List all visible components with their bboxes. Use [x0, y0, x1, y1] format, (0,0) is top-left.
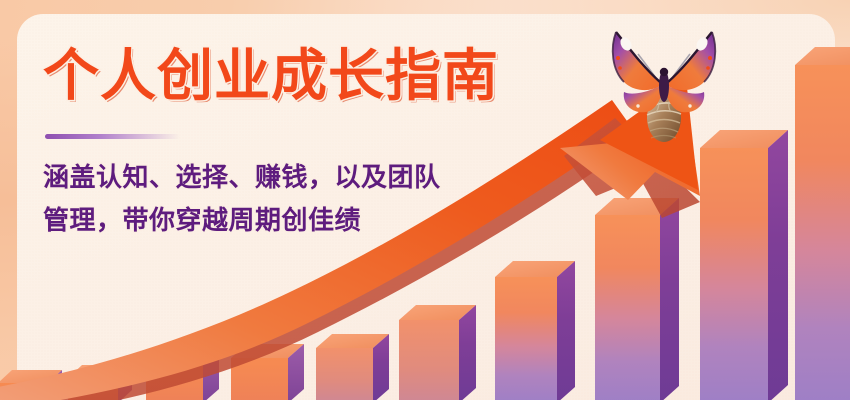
bar-7 [495, 261, 575, 400]
promo-banner: 个人创业成长指南 个人创业成长指南 涵盖认知、选择、赚钱，以及团队 管理，带你穿… [0, 0, 850, 400]
bar-9 [700, 130, 788, 400]
bar-3 [146, 349, 219, 400]
bar-5 [316, 334, 389, 400]
bar-2 [68, 365, 132, 400]
accent-divider [45, 134, 180, 139]
bar-6 [399, 305, 476, 400]
subtitle-line-1: 涵盖认知、选择、赚钱，以及团队 [43, 156, 583, 199]
page-title: 个人创业成长指南 [43, 48, 499, 104]
subtitle-line-2: 管理，带你穿越周期创佳绩 [43, 199, 583, 242]
bar-1 [0, 370, 62, 400]
page-subtitle: 涵盖认知、选择、赚钱，以及团队 管理，带你穿越周期创佳绩 [43, 156, 583, 242]
bar-4 [231, 344, 304, 400]
bar-8 [595, 198, 679, 400]
butterfly-icon [608, 22, 720, 147]
bar-10 [795, 47, 850, 400]
